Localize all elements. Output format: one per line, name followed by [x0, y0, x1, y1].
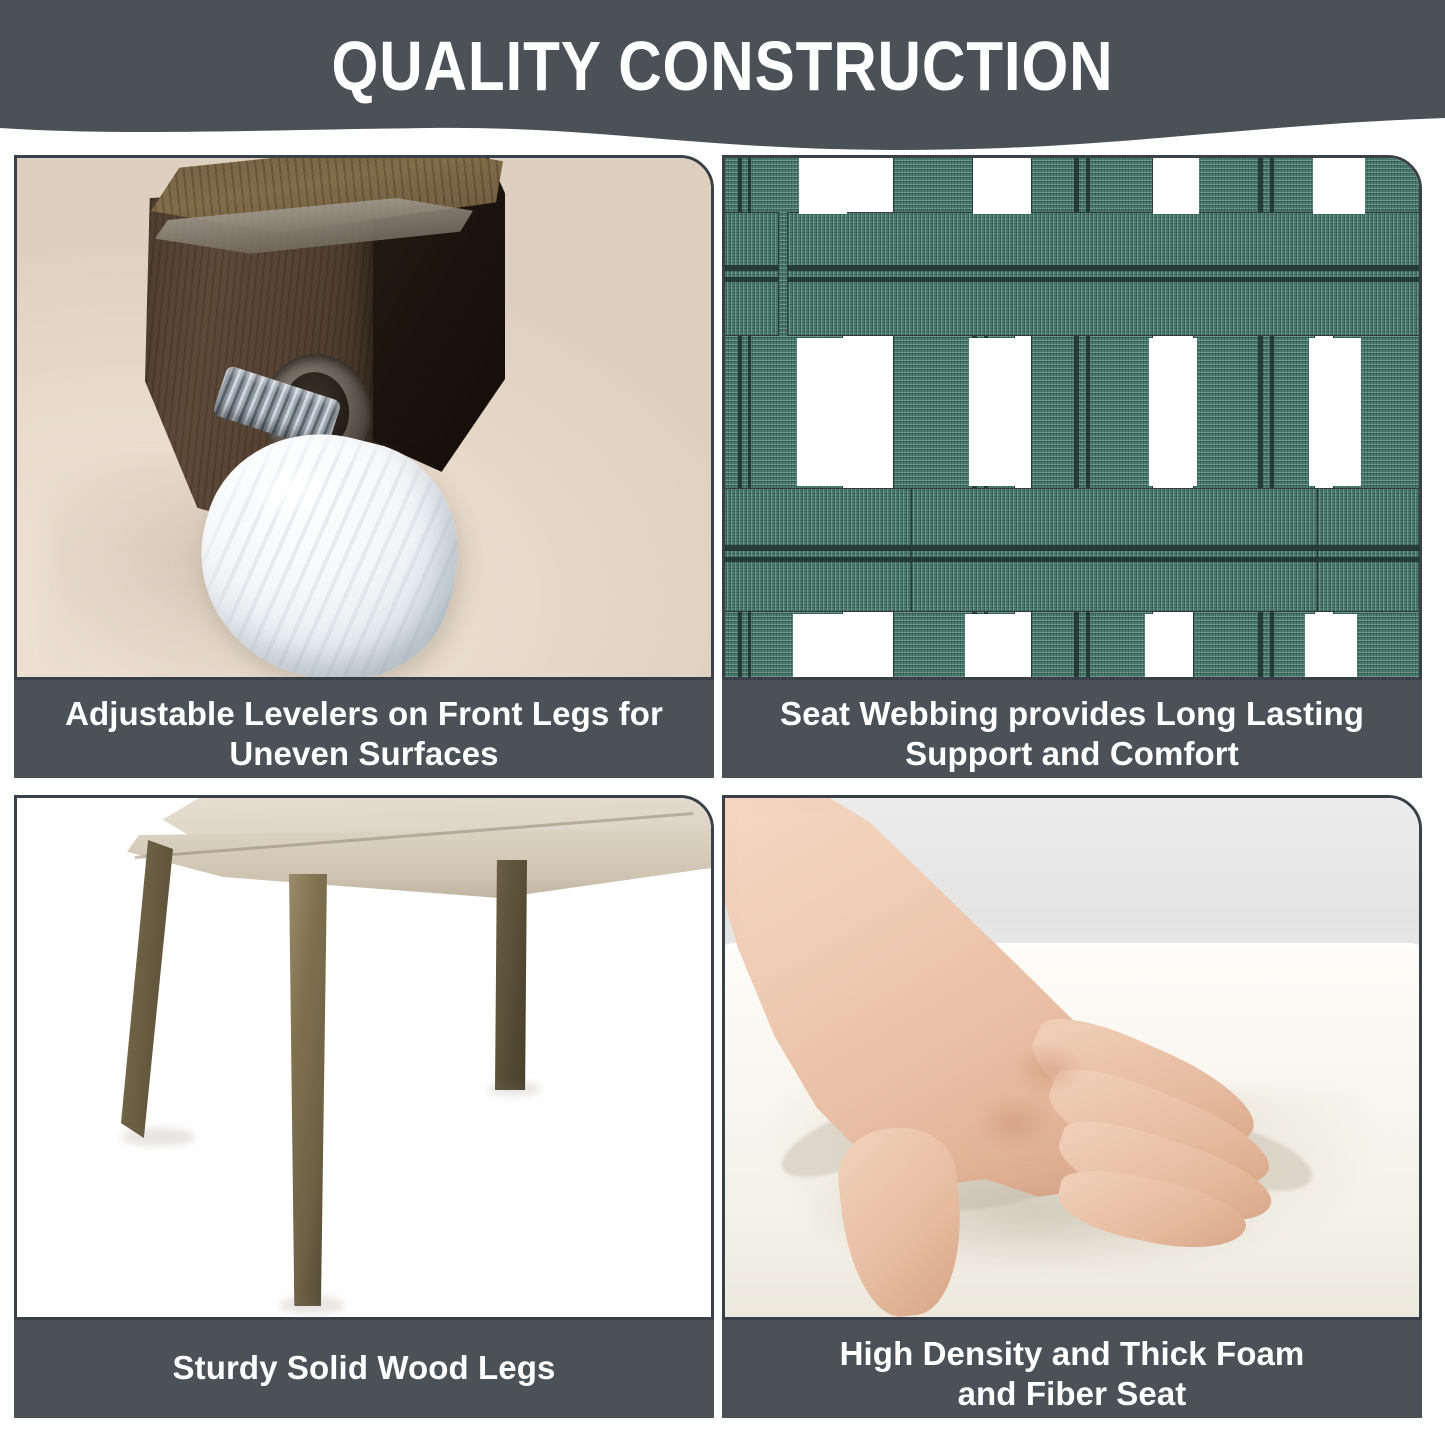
webbing-gap: [1153, 155, 1199, 214]
caption-high-density-foam: High Density and Thick Foam and Fiber Se…: [722, 1320, 1422, 1418]
page-title: QUALITY CONSTRUCTION: [101, 26, 1344, 106]
webbing-gap: [1149, 338, 1197, 486]
webbing-gap: [969, 338, 1027, 486]
webbing-gap: [965, 614, 1023, 680]
webbing-gap: [1313, 155, 1365, 214]
feature-panel-adjustable-levelers: Adjustable Levelers on Front Legs for Un…: [14, 155, 714, 778]
webbing-gap: [1145, 614, 1193, 680]
webbing-horizontal-strap: [1317, 488, 1422, 612]
leg-floor-shadow: [487, 1082, 541, 1096]
caption-line: Seat Webbing provides Long Lasting: [738, 694, 1406, 734]
wood-legs-photo: [14, 795, 714, 1320]
caption-line: Uneven Surfaces: [30, 734, 698, 774]
caption-seat-webbing: Seat Webbing provides Long Lasting Suppo…: [722, 680, 1422, 778]
webbing-weave: [725, 158, 1419, 677]
webbing-gap: [797, 338, 847, 486]
leg-floor-shadow: [121, 1128, 195, 1146]
header-banner: QUALITY CONSTRUCTION: [0, 0, 1445, 160]
hand-knuckle: [1013, 1042, 1085, 1096]
leveler-photo: [14, 155, 714, 680]
caption-line: and Fiber Seat: [738, 1374, 1406, 1414]
wooden-leg-block: [145, 155, 565, 566]
webbing-gap: [1305, 614, 1357, 680]
caption-line: Sturdy Solid Wood Legs: [173, 1348, 556, 1388]
leg-floor-shadow: [279, 1296, 345, 1314]
feature-panel-solid-wood-legs: Sturdy Solid Wood Legs: [14, 795, 714, 1418]
wood-leg-front: [289, 874, 327, 1306]
caption-adjustable-levelers: Adjustable Levelers on Front Legs for Un…: [14, 680, 714, 778]
feature-panel-seat-webbing: Seat Webbing provides Long Lasting Suppo…: [722, 155, 1422, 778]
caption-line: Support and Comfort: [738, 734, 1406, 774]
feature-panel-high-density-foam: High Density and Thick Foam and Fiber Se…: [722, 795, 1422, 1418]
foam-photo: [722, 795, 1422, 1320]
webbing-gap: [1309, 338, 1361, 486]
feature-panel-grid: Adjustable Levelers on Front Legs for Un…: [14, 155, 1432, 1433]
seat-webbing-photo: [722, 155, 1422, 680]
webbing-gap: [973, 155, 1031, 214]
hand-knuckle: [975, 1094, 1053, 1152]
caption-solid-wood-legs: Sturdy Solid Wood Legs: [14, 1320, 714, 1418]
webbing-gap: [793, 614, 843, 680]
webbing-horizontal-strap: [722, 212, 779, 336]
webbing-gap: [799, 155, 847, 214]
webbing-horizontal-strap: [787, 212, 1422, 336]
caption-line: High Density and Thick Foam: [738, 1334, 1406, 1374]
caption-line: Adjustable Levelers on Front Legs for: [30, 694, 698, 734]
wood-leg-rear-right: [495, 860, 527, 1090]
